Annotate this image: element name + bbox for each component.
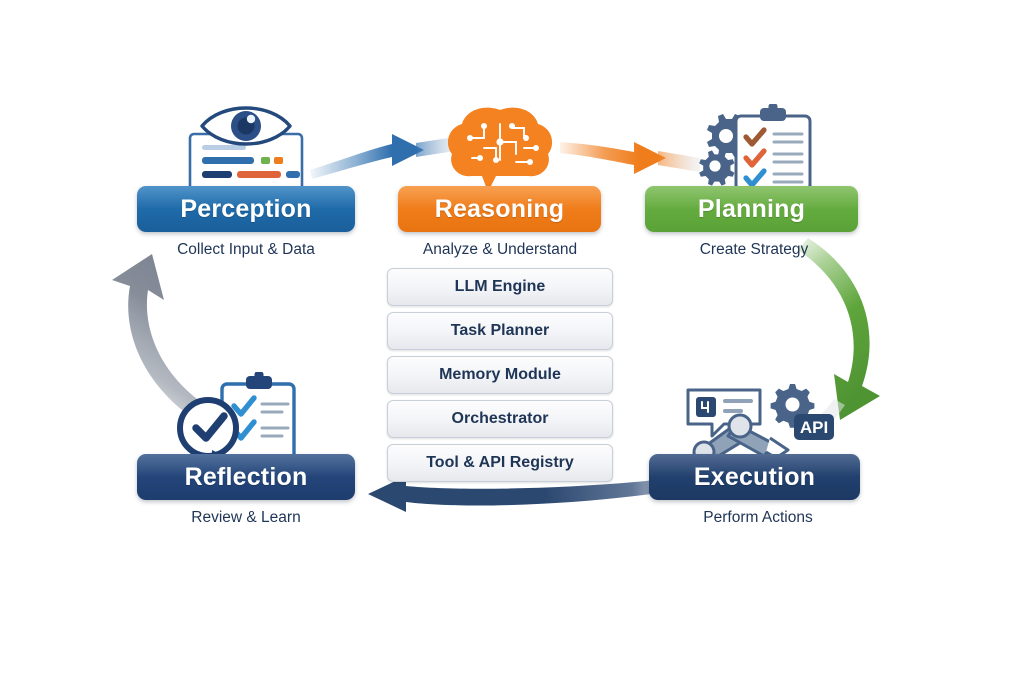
diagram-canvas: Perception Collect Input & Data bbox=[0, 0, 1024, 683]
node-planning-caption: Create Strategy bbox=[645, 241, 863, 259]
node-planning[interactable]: Planning Create Strategy bbox=[645, 104, 863, 259]
node-perception-caption: Collect Input & Data bbox=[137, 241, 355, 259]
node-perception-label: Perception bbox=[180, 195, 311, 224]
component-label: Task Planner bbox=[451, 322, 549, 340]
node-execution-label: Execution bbox=[694, 463, 815, 492]
eye-document-icon bbox=[166, 104, 326, 192]
component-label: Orchestrator bbox=[452, 410, 549, 428]
component-task-planner[interactable]: Task Planner bbox=[387, 312, 613, 350]
clipboard-gears-icon bbox=[674, 104, 834, 192]
node-execution-caption: Perform Actions bbox=[649, 509, 867, 527]
node-reasoning-label: Reasoning bbox=[435, 195, 565, 224]
node-reasoning[interactable]: Reasoning Analyze & Understand bbox=[391, 104, 609, 259]
node-perception[interactable]: Perception Collect Input & Data bbox=[137, 104, 355, 259]
node-planning-label: Planning bbox=[698, 195, 805, 224]
svg-text:API: API bbox=[800, 418, 828, 437]
component-orchestrator[interactable]: Orchestrator bbox=[387, 400, 613, 438]
component-label: LLM Engine bbox=[455, 278, 546, 296]
node-execution[interactable]: API Execution Perform Actions bbox=[649, 372, 867, 527]
component-label: Tool & API Registry bbox=[426, 454, 574, 472]
component-stack: LLM Engine Task Planner Memory Module Or… bbox=[387, 268, 613, 482]
node-planning-pill[interactable]: Planning bbox=[645, 186, 858, 232]
robot-arm-api-icon: API bbox=[678, 372, 838, 460]
component-label: Memory Module bbox=[439, 366, 561, 384]
clipboard-check-icon bbox=[166, 372, 326, 460]
node-reflection-caption: Review & Learn bbox=[137, 509, 355, 527]
component-llm-engine[interactable]: LLM Engine bbox=[387, 268, 613, 306]
node-reasoning-caption: Analyze & Understand bbox=[391, 241, 609, 259]
node-reflection-pill[interactable]: Reflection bbox=[137, 454, 355, 500]
node-execution-pill[interactable]: Execution bbox=[649, 454, 860, 500]
component-memory-module[interactable]: Memory Module bbox=[387, 356, 613, 394]
node-perception-pill[interactable]: Perception bbox=[137, 186, 355, 232]
node-reflection-label: Reflection bbox=[185, 463, 308, 492]
node-reasoning-pill[interactable]: Reasoning bbox=[398, 186, 601, 232]
brain-circuit-icon bbox=[420, 104, 580, 192]
component-tool-api-registry[interactable]: Tool & API Registry bbox=[387, 444, 613, 482]
node-reflection[interactable]: Reflection Review & Learn bbox=[137, 372, 355, 527]
